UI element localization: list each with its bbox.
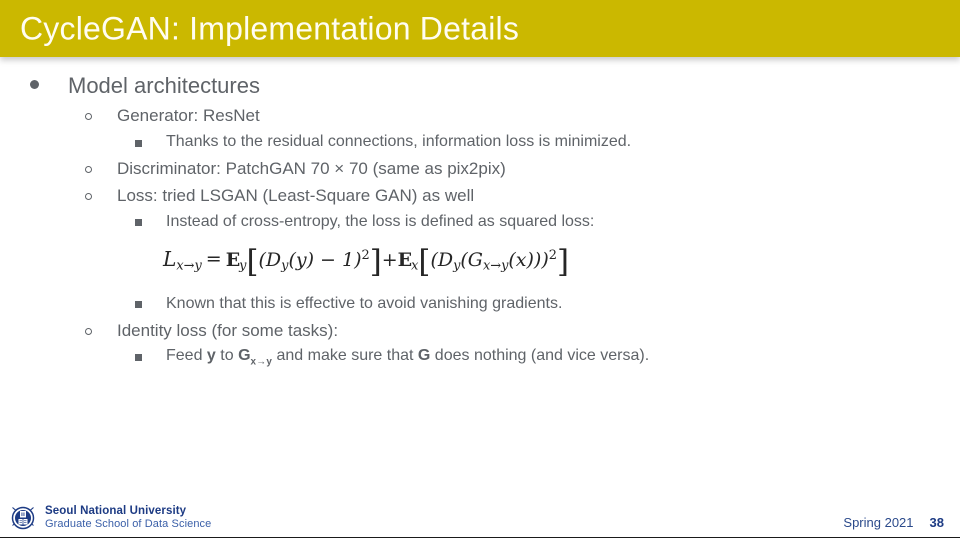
bullet-text: Instead of cross-entropy, the loss is de… bbox=[166, 212, 960, 232]
bullet-text: Loss: tried LSGAN (Least-Square GAN) as … bbox=[117, 185, 960, 207]
identity-part1: Feed bbox=[166, 347, 207, 364]
bullet-text: Discriminator: PatchGAN 70 × 70 (same as… bbox=[117, 158, 960, 180]
equation-term2-power: 2 bbox=[549, 248, 557, 263]
bullet-hollow-circle-icon bbox=[85, 158, 117, 181]
equation-expectation-2: E bbox=[398, 248, 411, 270]
identity-bold-g2: G bbox=[418, 347, 430, 364]
equation-term2-generator: (G bbox=[460, 248, 483, 270]
presentation-slide: CycleGAN: Implementation Details Model a… bbox=[0, 0, 960, 542]
equation-bracket-open-2: [ bbox=[418, 244, 430, 280]
equation-lhs-symbol: L bbox=[163, 246, 176, 270]
equation-term1-power: 2 bbox=[362, 248, 370, 263]
bullet-text: Identity loss (for some tasks): bbox=[117, 320, 960, 342]
footer-meta: Spring 2021 38 bbox=[843, 515, 944, 530]
identity-bold-g1: G bbox=[238, 347, 250, 364]
equation-term1-arg: (y) − 1) bbox=[288, 248, 361, 270]
slide-body: Model architectures Generator: ResNet Th… bbox=[0, 72, 960, 373]
term-label: Spring 2021 bbox=[843, 515, 913, 530]
footer-divider bbox=[0, 537, 960, 539]
school-name: Graduate School of Data Science bbox=[45, 518, 211, 530]
identity-part2: to bbox=[216, 347, 238, 364]
identity-part4: does nothing (and vice versa). bbox=[430, 347, 649, 364]
equation-plus: + bbox=[382, 248, 398, 270]
bullet-level1-model-architectures: Model architectures bbox=[30, 72, 960, 100]
equation-bracket-close-1: ] bbox=[370, 244, 382, 280]
equation-expectation-2-subscript: x bbox=[411, 258, 418, 273]
university-name-block: Seoul National University Graduate Schoo… bbox=[45, 505, 211, 530]
bullet-hollow-circle-icon bbox=[85, 320, 117, 343]
equation-bracket-close-2: ] bbox=[557, 244, 569, 280]
university-logo-block: Seoul National University Graduate Schoo… bbox=[8, 503, 211, 533]
lsgan-loss-equation: Lx→y=Ey[(Dy(y) − 1)2]+Ex[(Dy(Gx→y(x)))2] bbox=[163, 244, 960, 280]
slide-header-bar: CycleGAN: Implementation Details bbox=[0, 0, 960, 57]
equation-bracket-open-1: [ bbox=[246, 244, 258, 280]
bullet-level3-residual-connections: Thanks to the residual connections, info… bbox=[135, 132, 960, 154]
equation-term2-generator-subscript: x→y bbox=[483, 258, 508, 273]
bullet-level2-discriminator: Discriminator: PatchGAN 70 × 70 (same as… bbox=[85, 158, 960, 181]
bullet-filled-circle-icon bbox=[30, 72, 68, 95]
bullet-level2-identity-loss: Identity loss (for some tasks): bbox=[85, 320, 960, 343]
identity-part3: and make sure that bbox=[272, 347, 418, 364]
bullet-filled-square-icon bbox=[135, 346, 166, 368]
equation-term2-inner: (D bbox=[430, 248, 453, 270]
bullet-filled-square-icon bbox=[135, 212, 166, 234]
bullet-text: Model architectures bbox=[68, 72, 960, 100]
bullet-level2-loss-lsgan: Loss: tried LSGAN (Least-Square GAN) as … bbox=[85, 185, 960, 208]
bullet-text: Known that this is effective to avoid va… bbox=[166, 294, 960, 314]
bullet-hollow-circle-icon bbox=[85, 105, 117, 128]
bullet-level3-identity-feed: Feed y to Gx→y and make sure that G does… bbox=[135, 346, 960, 369]
equation-expectation-1-subscript: y bbox=[239, 258, 246, 273]
equation-equals: = bbox=[202, 248, 226, 270]
slide-title: CycleGAN: Implementation Details bbox=[20, 10, 519, 47]
snu-emblem-icon bbox=[8, 503, 38, 533]
equation-lhs-subscript: x→y bbox=[176, 258, 201, 273]
bullet-text-identity: Feed y to Gx→y and make sure that G does… bbox=[166, 346, 960, 369]
page-number: 38 bbox=[930, 515, 944, 530]
bullet-text: Generator: ResNet bbox=[117, 105, 960, 127]
bullet-level3-vanishing-gradients: Known that this is effective to avoid va… bbox=[135, 294, 960, 316]
equation-term2-arg: (x))) bbox=[508, 248, 548, 270]
bullet-level2-generator: Generator: ResNet bbox=[85, 105, 960, 128]
bullet-text: Thanks to the residual connections, info… bbox=[166, 132, 960, 152]
university-name: Seoul National University bbox=[45, 505, 211, 518]
identity-bold-y: y bbox=[207, 347, 216, 364]
bullet-hollow-circle-icon bbox=[85, 185, 117, 208]
equation-term1-inner: (D bbox=[258, 248, 281, 270]
identity-g1-subscript: x→y bbox=[251, 357, 273, 368]
bullet-filled-square-icon bbox=[135, 132, 166, 154]
bullet-filled-square-icon bbox=[135, 294, 166, 316]
bullet-level3-squared-loss: Instead of cross-entropy, the loss is de… bbox=[135, 212, 960, 234]
equation-expectation-1: E bbox=[226, 248, 239, 270]
